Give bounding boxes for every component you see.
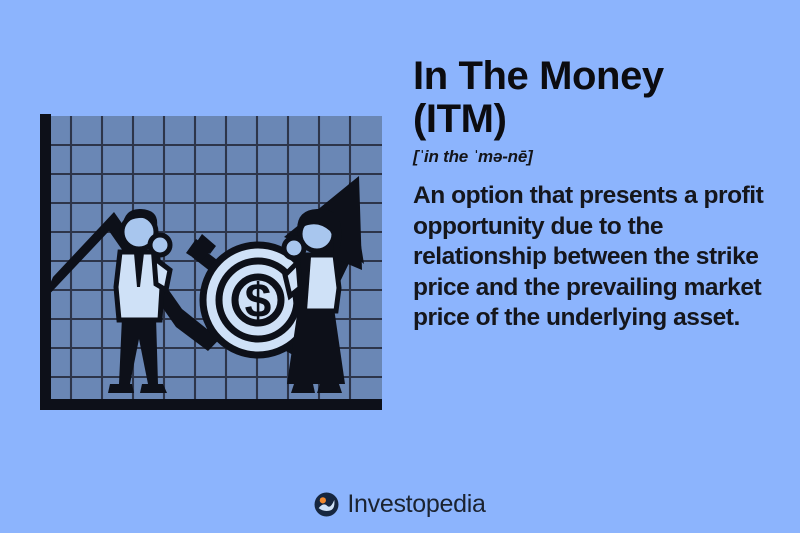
page-title-line-1: In The Money [413,54,664,98]
page-title-line-2: (ITM) [413,97,507,141]
brand-name: Investopedia [347,492,485,517]
page-root: $ [0,0,800,533]
woman-shoe-right [317,384,342,393]
man-shoe-left [108,384,134,393]
illustration-canvas: $ [26,112,386,422]
stock-chart-illustration: $ [26,112,386,422]
investopedia-logo-mark [314,492,339,517]
definition-panel: In The Money(ITM) [ˈin the ˈmə-nē] An op… [413,55,785,333]
x-axis [40,399,382,410]
woman-phone-hand [284,238,304,258]
man-phone-hand [150,235,170,255]
pronunciation-text: [ˈin the ˈmə-nē] [413,147,785,167]
dollar-sign: $ [245,275,272,328]
woman-shoe-left [291,384,315,393]
man-shoe-right [140,384,167,393]
definition-text: An option that presents a profit opportu… [413,181,785,333]
brand-footer: Investopedia [0,492,800,517]
page-title: In The Money(ITM) [413,55,785,141]
y-axis [40,114,51,410]
